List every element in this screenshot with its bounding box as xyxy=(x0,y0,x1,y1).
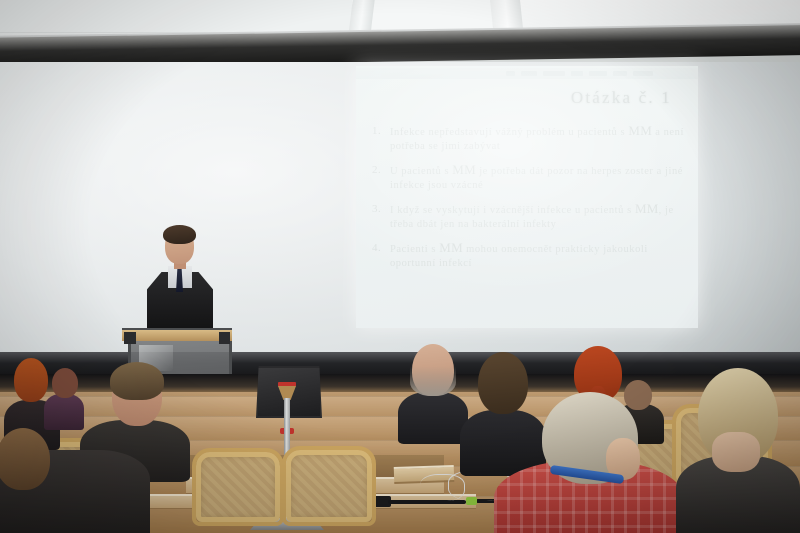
slide-item-2: 2. U pacientů s MM je potřeba dát pozor … xyxy=(372,163,690,193)
audience-blonde-woman xyxy=(676,366,800,533)
person-neck xyxy=(712,432,760,472)
slide-item-4: 4. Pacienti s MM mohou onemocnět praktic… xyxy=(372,241,690,271)
person-hair xyxy=(0,428,50,490)
person-head xyxy=(52,368,78,398)
slide-item-3: 3. I když se vyskytují i vzácnější infek… xyxy=(372,202,690,232)
slide-bullet-list: 1. Infekce nepředstavují vážný problém u… xyxy=(372,124,690,280)
slide-item-1-number: 1. xyxy=(372,124,383,154)
slide-item-2-text: U pacientů s MM je potřeba dát pozor na … xyxy=(390,163,690,193)
presenter-hair xyxy=(163,225,196,244)
chair-empty-left-a xyxy=(196,452,280,522)
person-torso xyxy=(44,394,84,430)
cable-tie-green xyxy=(466,497,477,505)
chair-gold-frame xyxy=(282,446,376,526)
slide-item-4-text: Pacienti s MM mohou onemocnět prakticky … xyxy=(390,241,690,271)
slide-item-3-number: 3. xyxy=(372,202,383,232)
slide-toolbar-ghost xyxy=(356,68,698,79)
person-hair xyxy=(410,366,456,396)
slide-item-2-number: 2. xyxy=(372,163,383,193)
ceiling-panel-mid xyxy=(372,0,494,31)
podium-cap-left xyxy=(124,332,136,344)
conference-photo-scene: Otázka č. 1 1. Infekce nepředstavují váž… xyxy=(0,0,800,533)
ceiling-panel-left xyxy=(0,0,352,33)
audience-person-violet xyxy=(44,368,84,428)
slide-item-4-number: 4. xyxy=(372,241,383,271)
cable-black-a xyxy=(388,500,466,504)
slide-item-1-text: Infekce nepředstavují vážný problém u pa… xyxy=(390,124,690,154)
audience-bald-man xyxy=(398,344,468,440)
person-hair xyxy=(14,358,48,402)
audience-man-foreground-left xyxy=(0,428,150,533)
person-torso xyxy=(398,392,468,444)
audience-man-plaid-shirt xyxy=(494,392,684,533)
person-hair xyxy=(110,362,164,400)
podium-top-rail xyxy=(122,328,232,341)
presenter xyxy=(143,228,215,328)
projected-slide: Otázka č. 1 1. Infekce nepředstavují váž… xyxy=(356,66,698,328)
slide-item-1: 1. Infekce nepředstavují vážný problém u… xyxy=(372,124,690,154)
slide-item-3-text: I když se vyskytují i vzácnější infekce … xyxy=(390,202,690,232)
chair-gold-frame xyxy=(192,448,284,526)
podium-cap-right xyxy=(219,332,230,344)
chair-empty-left-b xyxy=(286,450,372,522)
slide-title: Otázka č. 1 xyxy=(571,88,672,108)
